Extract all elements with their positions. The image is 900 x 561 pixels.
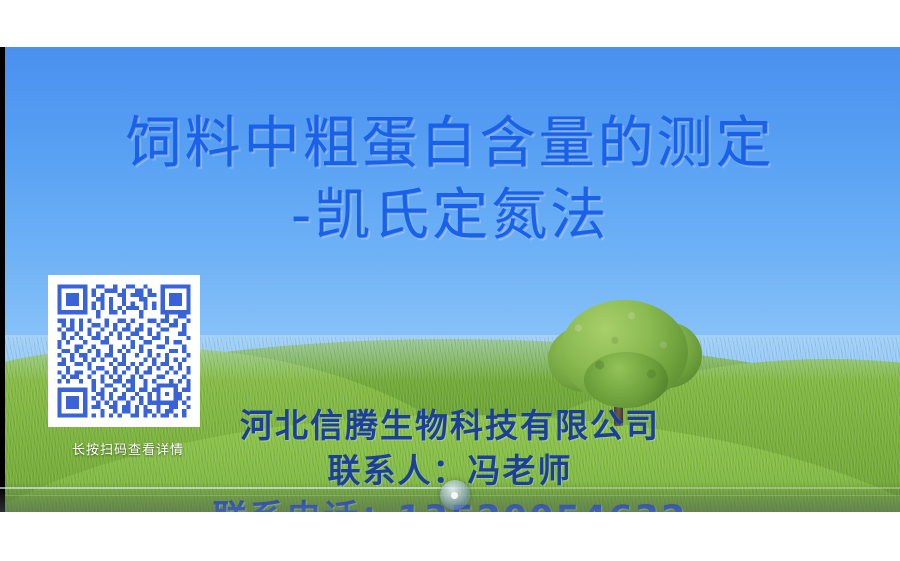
seek-handle[interactable] (440, 480, 470, 510)
video-controls[interactable] (0, 478, 900, 512)
tree-canopy-bottom (584, 352, 668, 408)
video-scene: 饲料中粗蛋白含量的测定 -凯氏定氮法 (0, 47, 900, 512)
qr-code-block[interactable]: 长按扫码查看详情 (48, 275, 208, 458)
qr-code-image[interactable] (48, 275, 200, 427)
letterbox-left-bar (0, 47, 5, 512)
seek-handle-dot (451, 492, 458, 499)
page-root: 饲料中粗蛋白含量的测定 -凯氏定氮法 (0, 0, 900, 561)
progress-bar-fill (0, 487, 455, 489)
slide-title: 饲料中粗蛋白含量的测定 -凯氏定氮法 (0, 109, 900, 251)
title-line-2: -凯氏定氮法 (0, 181, 900, 251)
qr-code-caption: 长按扫码查看详情 (48, 439, 208, 458)
title-line-1: 饲料中粗蛋白含量的测定 (0, 109, 900, 179)
video-player[interactable]: 饲料中粗蛋白含量的测定 -凯氏定氮法 (0, 47, 900, 512)
